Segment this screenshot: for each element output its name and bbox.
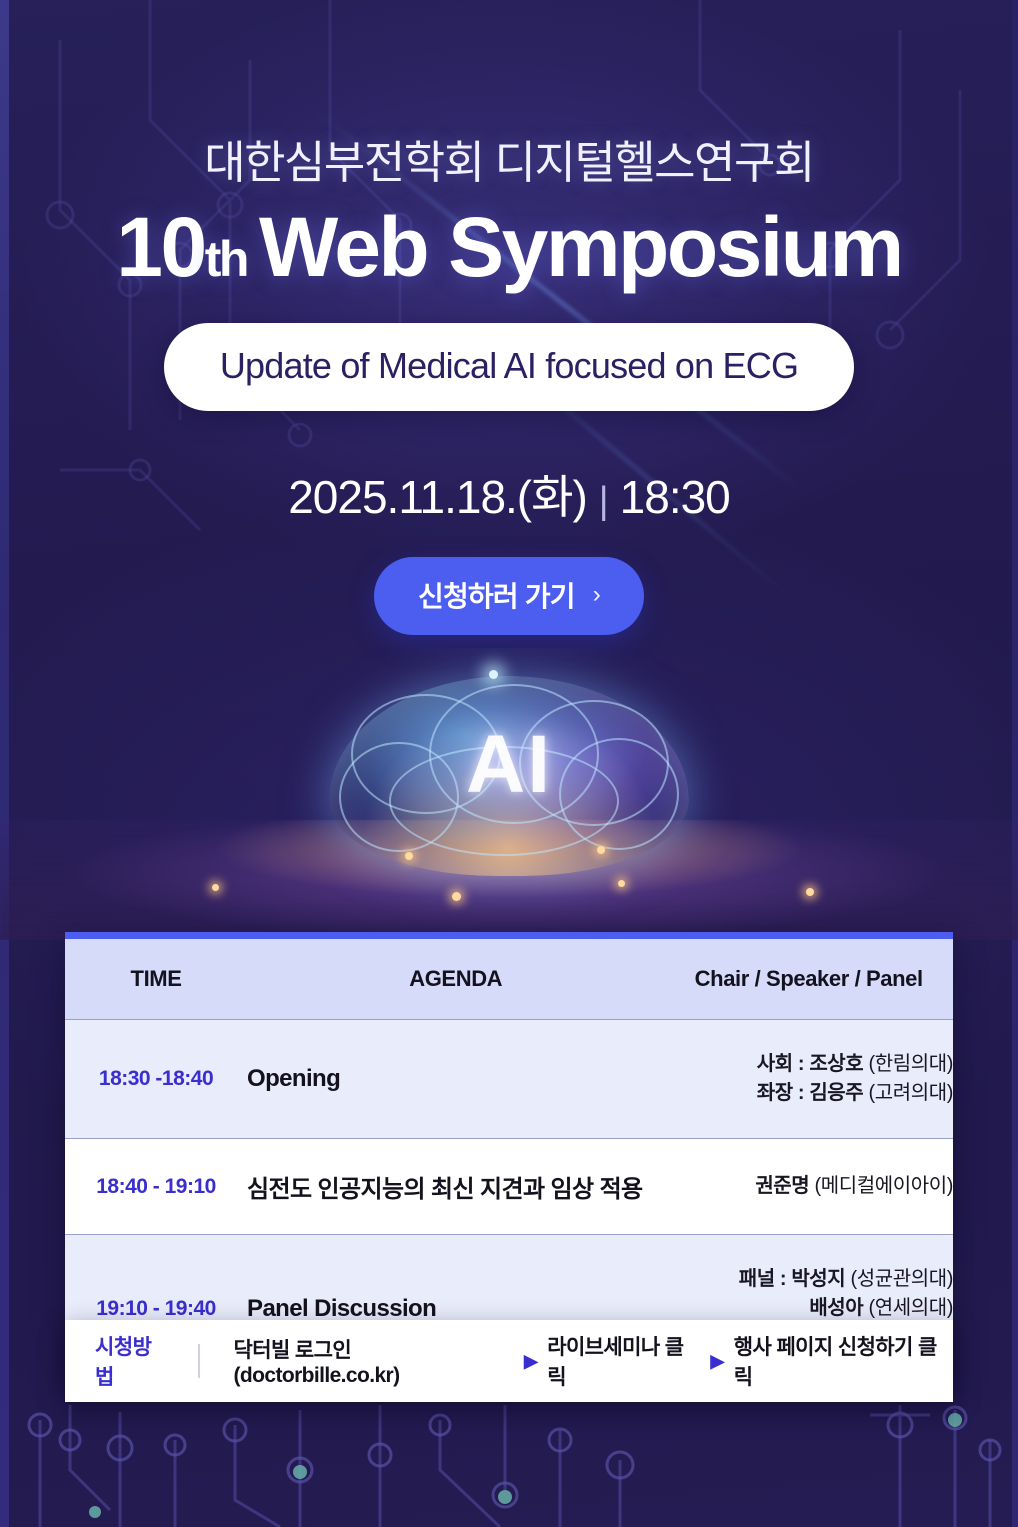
agenda-accent-bar — [65, 932, 953, 939]
row-time: 18:40 - 19:10 — [65, 1139, 247, 1235]
register-button-label: 신청하러 가기 — [418, 575, 575, 615]
person-entry: 좌장 : 김응주 (고려의대) — [664, 1079, 953, 1108]
person-role: 사회 : — [757, 1053, 810, 1075]
subtitle-pill: Update of Medical AI focused on ECG — [164, 323, 854, 411]
spark-dot — [452, 892, 461, 901]
person-affiliation: (고려의대) — [863, 1082, 953, 1104]
row-agenda: Opening — [247, 1020, 664, 1139]
row-agenda: 심전도 인공지능의 최신 지견과 임상 적용 — [247, 1139, 664, 1235]
agenda-table: TIME AGENDA Chair / Speaker / Panel 18:3… — [65, 939, 953, 1382]
person-name: 권준명 — [755, 1175, 809, 1197]
poster-header: 대한심부전학회 디지털헬스연구회 10thWeb Symposium Updat… — [0, 0, 1018, 635]
poster-canvas: 대한심부전학회 디지털헬스연구회 10thWeb Symposium Updat… — [0, 0, 1018, 1527]
person-entry: 사회 : 조상호 (한림의대) — [664, 1050, 953, 1079]
person-name: 조상호 — [809, 1053, 863, 1075]
event-time: 18:30 — [620, 471, 730, 523]
row-time: 18:30 -18:40 — [65, 1020, 247, 1139]
ai-text-overlay: AI — [466, 718, 552, 812]
person-name: 김응주 — [809, 1082, 863, 1104]
howto-step: 행사 페이지 신청하기 클릭 — [734, 1331, 953, 1391]
spark-dot — [597, 846, 605, 854]
person-affiliation: (한림의대) — [863, 1053, 953, 1075]
howto-strip: 시청방법 닥터빌 로그인(doctorbille.co.kr) ▶ 라이브세미나… — [65, 1320, 953, 1402]
person-role: 좌장 : — [757, 1082, 810, 1104]
edition-number: 10 — [116, 200, 204, 294]
person-affiliation: (성균관의대) — [845, 1268, 953, 1290]
register-button[interactable]: 신청하러 가기 › — [374, 557, 644, 635]
person-entry: 권준명 (메디컬에이아이) — [664, 1172, 953, 1201]
spark-dot — [618, 880, 625, 887]
row-people: 권준명 (메디컬에이아이) — [664, 1139, 953, 1235]
hero-brain-image: AI — [0, 648, 1018, 940]
howto-label: 시청방법 — [65, 1331, 198, 1391]
spark-dot — [806, 888, 814, 896]
person-affiliation: (메디컬에이아이) — [809, 1175, 953, 1197]
event-datetime: 2025.11.18.(화)|18:30 — [0, 461, 1018, 527]
person-affiliation: (연세의대) — [863, 1297, 953, 1319]
person-entry: 패널 : 박성지 (성균관의대) — [664, 1265, 953, 1294]
event-date: 2025.11.18.(화) — [288, 471, 587, 523]
organization-title: 대한심부전학회 디지털헬스연구회 — [0, 126, 1018, 191]
brain-fold — [339, 742, 459, 852]
symposium-label: Web Symposium — [259, 200, 902, 294]
column-header-time: TIME — [65, 939, 247, 1020]
brain-fold — [559, 738, 679, 850]
howto-step[interactable]: 닥터빌 로그인(doctorbille.co.kr) — [234, 1334, 514, 1388]
agenda-header-row: TIME AGENDA Chair / Speaker / Panel — [65, 939, 953, 1020]
spark-dot — [489, 670, 498, 679]
howto-steps: 닥터빌 로그인(doctorbille.co.kr) ▶ 라이브세미나 클릭 ▶… — [200, 1331, 953, 1391]
chevron-right-icon: › — [593, 581, 600, 609]
person-name: 배성아 — [809, 1297, 863, 1319]
spark-dot — [212, 884, 219, 891]
table-row: 18:40 - 19:10 심전도 인공지능의 최신 지견과 임상 적용 권준명… — [65, 1139, 953, 1235]
spark-dot — [405, 852, 413, 860]
agenda-panel: TIME AGENDA Chair / Speaker / Panel 18:3… — [65, 932, 953, 1382]
person-entry: 배성아 (연세의대) — [664, 1294, 953, 1323]
arrow-right-icon: ▶ — [524, 1351, 537, 1372]
row-people: 사회 : 조상호 (한림의대) 좌장 : 김응주 (고려의대) — [664, 1020, 953, 1139]
datetime-separator: | — [599, 480, 608, 522]
howto-step: 라이브세미나 클릭 — [547, 1331, 700, 1391]
person-role: 패널 : — [739, 1268, 792, 1290]
column-header-people: Chair / Speaker / Panel — [664, 939, 953, 1020]
table-row: 18:30 -18:40 Opening 사회 : 조상호 (한림의대) 좌장 … — [65, 1020, 953, 1139]
page-title: 10thWeb Symposium — [0, 205, 1018, 289]
edition-ordinal: th — [205, 231, 247, 287]
person-name: 박성지 — [791, 1268, 845, 1290]
arrow-right-icon: ▶ — [711, 1351, 724, 1372]
column-header-agenda: AGENDA — [247, 939, 664, 1020]
brain-graphic: AI — [329, 676, 689, 876]
